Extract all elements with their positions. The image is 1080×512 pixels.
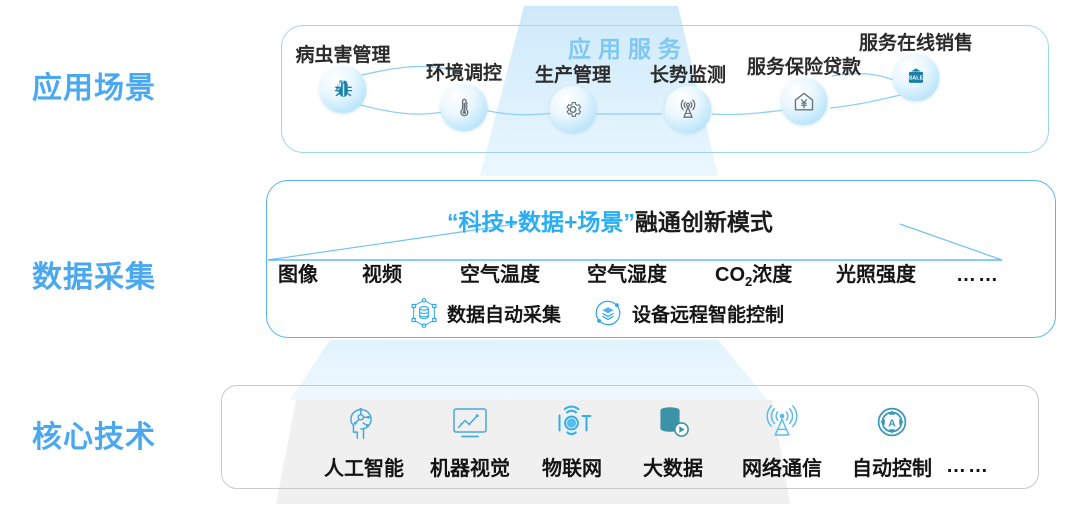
data-section-title: “科技+数据+场景”融通创新模式 xyxy=(447,203,773,237)
tech-item-label: 自动控制 xyxy=(852,452,932,481)
scene-node-label: 病虫害管理 xyxy=(295,40,390,67)
tech-item-iot[interactable]: 物联网 xyxy=(524,399,620,481)
tech-item-label: 人工智能 xyxy=(324,452,404,481)
title-tail: 融通创新模式 xyxy=(635,209,773,235)
title-plus2: + xyxy=(564,209,577,235)
data-item-light: 光照强度 xyxy=(836,258,956,287)
title-plus1: + xyxy=(505,209,518,235)
data-item-air-temp: 空气温度 xyxy=(460,258,587,287)
data-item-list: 图像 视频 空气温度 空气湿度 CO2浓度 光照强度 …… xyxy=(278,258,1048,289)
bug-icon xyxy=(320,66,367,113)
data-feature-row: 数据自动采集 设备远程智能控制 xyxy=(410,298,784,328)
scene-node-label: 服务保险贷款 xyxy=(747,52,861,79)
ai-head-icon xyxy=(343,399,385,449)
tech-item-label: 网络通信 xyxy=(742,452,822,481)
scene-title: 应用服务 xyxy=(568,30,688,64)
antenna-tower-icon xyxy=(665,86,712,133)
gear-icon xyxy=(550,86,597,133)
section-label-tech: 核心技术 xyxy=(32,412,156,456)
auto-control-icon: A xyxy=(870,399,914,449)
iot-icon xyxy=(549,399,595,449)
data-items-ellipsis: …… xyxy=(956,264,1000,287)
data-item-video: 视频 xyxy=(362,258,460,287)
title-scene: 场景 xyxy=(577,209,623,235)
tech-item-big-data[interactable]: 大数据 xyxy=(620,399,726,481)
scene-node-label: 环境调控 xyxy=(426,58,502,85)
section-label-data: 数据采集 xyxy=(32,252,156,296)
quote-close: ” xyxy=(623,209,635,235)
data-feature-label-remote-control: 设备远程智能控制 xyxy=(632,300,784,327)
tech-item-auto-control[interactable]: A 自动控制 xyxy=(838,399,946,481)
data-item-air-humidity: 空气湿度 xyxy=(587,258,715,287)
scene-node-label: 生产管理 xyxy=(535,60,611,87)
svg-text:SALE: SALE xyxy=(909,75,924,81)
scene-node-label: 长势监测 xyxy=(650,60,726,87)
infographic-root: 应用场景 数据采集 核心技术 应用服务 病虫害管理 环境调 xyxy=(0,0,1080,512)
title-data: 数据 xyxy=(518,209,564,235)
co2-prefix: CO xyxy=(715,264,745,286)
sale-tag-icon: SALE xyxy=(893,54,940,101)
house-yuan-icon xyxy=(781,78,828,125)
thermometer-icon xyxy=(441,84,488,131)
tech-item-label: 物联网 xyxy=(542,452,602,481)
tech-item-label: 大数据 xyxy=(643,452,703,481)
database-network-icon xyxy=(410,298,438,328)
tech-item-ai[interactable]: 人工智能 xyxy=(312,399,416,481)
tech-item-label: 机器视觉 xyxy=(430,452,510,481)
tech-items-ellipsis: …… xyxy=(946,455,990,481)
data-feature-label-auto-collect: 数据自动采集 xyxy=(447,300,561,327)
layers-orbit-icon xyxy=(593,298,623,328)
monitor-chart-icon xyxy=(447,399,493,449)
co2-suffix: 浓度 xyxy=(752,264,792,286)
svg-text:A: A xyxy=(888,417,896,429)
big-data-icon xyxy=(650,399,696,449)
signal-tower-icon xyxy=(759,399,805,449)
tech-item-machine-vision[interactable]: 机器视觉 xyxy=(416,399,524,481)
title-tech: 科技 xyxy=(459,209,505,235)
scene-node-label: 服务在线销售 xyxy=(859,28,973,55)
tech-item-list: 人工智能 机器视觉 xyxy=(312,399,1012,481)
data-item-co2: CO2浓度 xyxy=(715,258,836,289)
quote-open: “ xyxy=(447,209,459,235)
tech-item-network-comm[interactable]: 网络通信 xyxy=(726,399,838,481)
data-item-image: 图像 xyxy=(278,258,362,287)
